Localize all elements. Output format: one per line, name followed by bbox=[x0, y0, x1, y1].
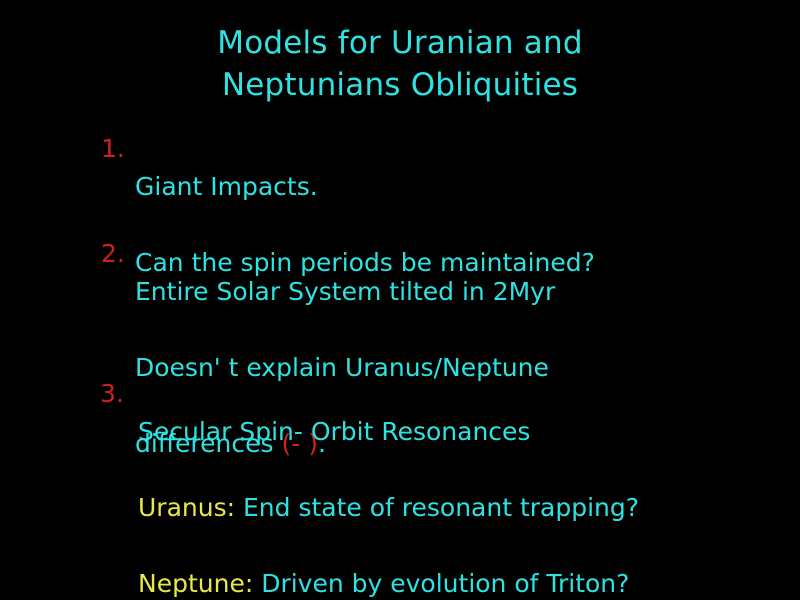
slide-title-line-1: Models for Uranian and bbox=[0, 22, 800, 64]
list-item-3-lines: Secular Spin- Orbit Resonances Uranus: E… bbox=[138, 375, 760, 600]
list-item-2-number: 2. bbox=[101, 235, 135, 273]
list-item-1-number: 1. bbox=[101, 130, 135, 168]
neptune-text: Driven by evolution of Triton? bbox=[253, 569, 629, 598]
uranus-label: Uranus: bbox=[138, 493, 235, 522]
uranus-text: End state of resonant trapping? bbox=[235, 493, 639, 522]
neptune-label: Neptune: bbox=[138, 569, 253, 598]
list-item-1-line-1: Giant Impacts. bbox=[135, 168, 761, 206]
list-item-3: 3. Secular Spin- Orbit Resonances Uranus… bbox=[100, 375, 760, 600]
list-item-3-line-2: Uranus: End state of resonant trapping? bbox=[138, 489, 760, 527]
list-item-3-number: 3. bbox=[100, 375, 138, 413]
slide-title: Models for Uranian and Neptunians Obliqu… bbox=[0, 22, 800, 106]
list-item-3-line-3: Neptune: Driven by evolution of Triton? bbox=[138, 565, 760, 600]
list-item-3-row: 3. Secular Spin- Orbit Resonances Uranus… bbox=[100, 375, 760, 600]
presentation-slide: Models for Uranian and Neptunians Obliqu… bbox=[0, 0, 800, 600]
slide-title-line-2: Neptunians Obliquities bbox=[0, 64, 800, 106]
list-item-3-line-1: Secular Spin- Orbit Resonances bbox=[138, 413, 760, 451]
list-item-2-line-1: Entire Solar System tilted in 2Myr bbox=[135, 273, 761, 311]
